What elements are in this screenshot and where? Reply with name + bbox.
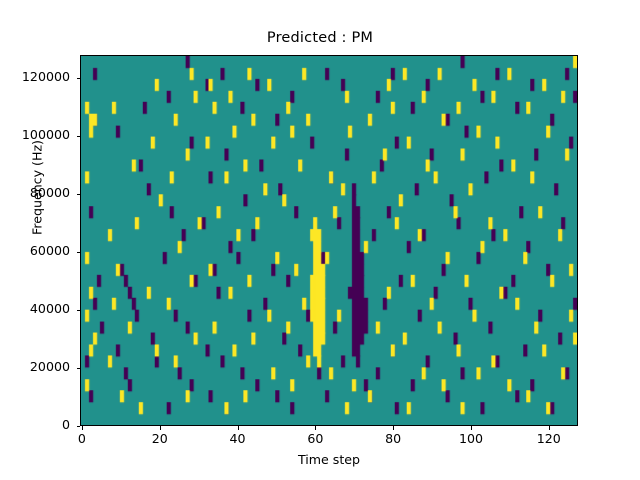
x-tick-mark [315, 426, 316, 430]
x-tick-label: 20 [130, 431, 190, 446]
heatmap-axes [80, 55, 578, 426]
x-tick-label: 100 [441, 431, 501, 446]
x-tick-label: 80 [363, 431, 423, 446]
y-tick-mark [77, 426, 81, 427]
x-tick-mark [82, 426, 83, 430]
y-tick-mark [77, 194, 81, 195]
x-tick-mark [238, 426, 239, 430]
x-tick-mark [393, 426, 394, 430]
x-tick-mark [160, 426, 161, 430]
y-tick-mark [77, 368, 81, 369]
x-axis-label: Time step [80, 452, 578, 467]
y-tick-mark [77, 78, 81, 79]
x-tick-label: 40 [208, 431, 268, 446]
x-tick-mark [549, 426, 550, 430]
y-tick-label: 0 [0, 417, 70, 432]
x-tick-label: 0 [52, 431, 112, 446]
plot-title: Predicted : PM [0, 30, 640, 46]
y-tick-mark [77, 136, 81, 137]
x-tick-label: 120 [519, 431, 579, 446]
y-axis-label: Frequency (Hz) [30, 68, 45, 308]
x-tick-mark [471, 426, 472, 430]
y-tick-label: 20000 [0, 359, 70, 374]
matplotlib-figure: Predicted : PM 020406080100120 020000400… [0, 0, 640, 480]
y-tick-mark [77, 252, 81, 253]
heatmap-image [81, 56, 577, 425]
x-tick-label: 60 [285, 431, 345, 446]
y-tick-mark [77, 310, 81, 311]
